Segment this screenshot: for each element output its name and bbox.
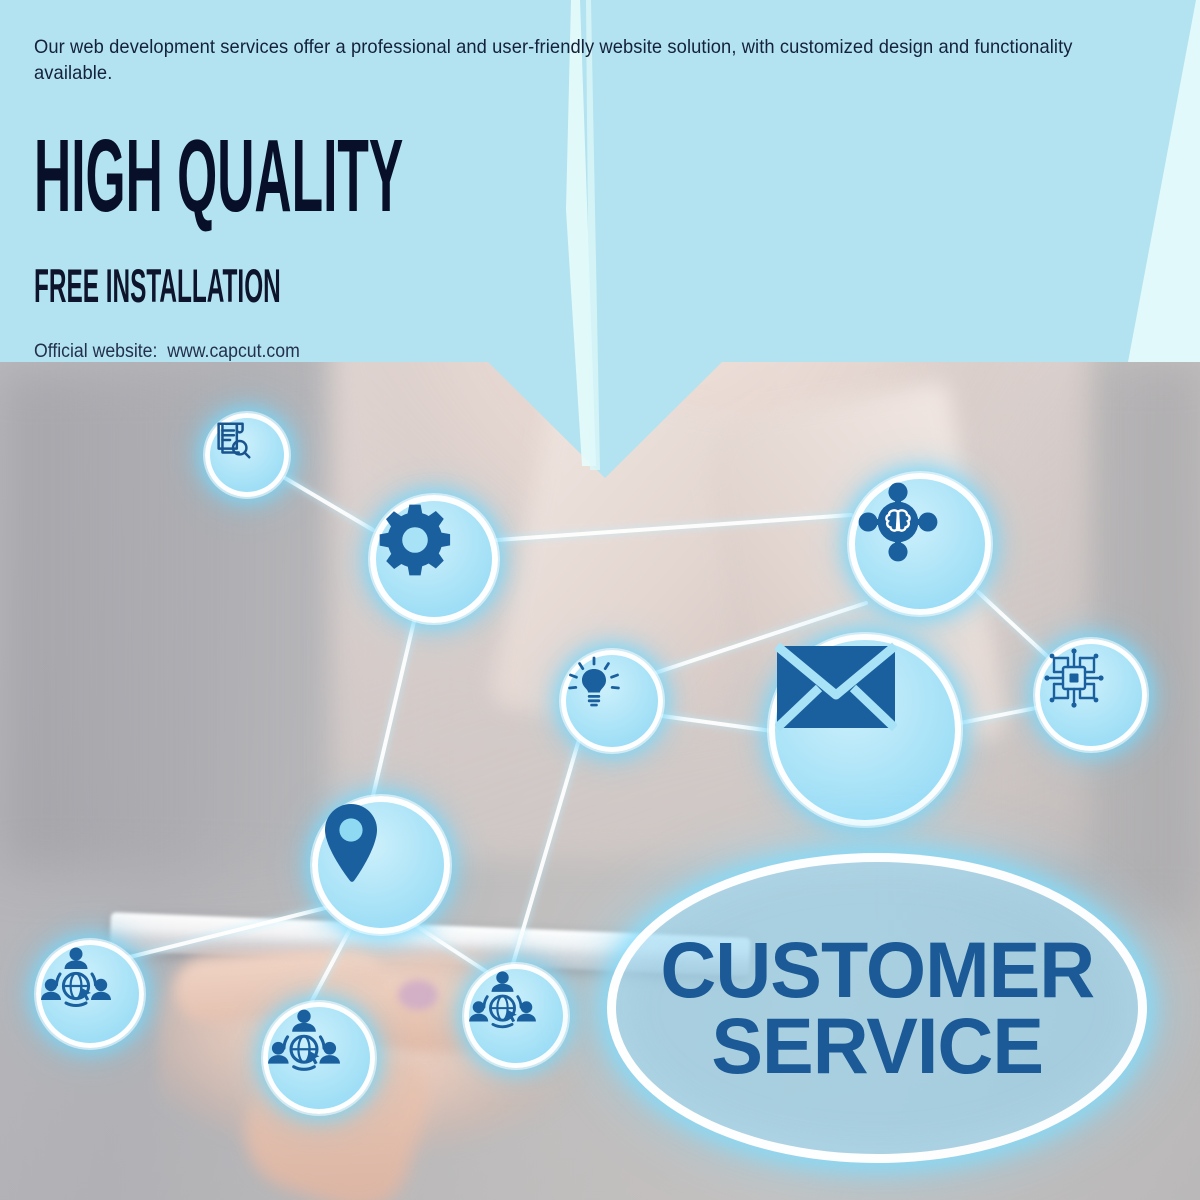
node-document-search[interactable] [205, 413, 289, 497]
page-title: HIGH QUALITY [34, 128, 656, 224]
customer-service-line-1: CUSTOMER [660, 932, 1094, 1008]
node-global-team-1[interactable] [36, 940, 144, 1048]
official-website-line: Official website: www.capcut.com [34, 340, 1066, 364]
customer-service-badge[interactable]: CUSTOMER SERVICE [607, 853, 1147, 1163]
subheading: FREE INSTALLATION [34, 264, 678, 309]
node-global-team-3[interactable] [464, 964, 568, 1068]
banner-text-block: Our web development services offer a pro… [34, 34, 1144, 364]
node-microchip[interactable] [1035, 639, 1147, 751]
node-location-pin[interactable] [312, 796, 450, 934]
node-gear[interactable] [370, 495, 498, 623]
node-global-team-2[interactable] [263, 1002, 375, 1114]
node-lightbulb[interactable] [561, 650, 663, 752]
node-brain-network[interactable] [849, 473, 991, 615]
customer-service-line-2: SERVICE [711, 1008, 1043, 1084]
tagline-text: Our web development services offer a pro… [34, 34, 1077, 86]
website-url[interactable]: www.capcut.com [167, 341, 300, 362]
node-envelope[interactable] [769, 634, 961, 826]
poster-canvas: CUSTOMER SERVICE Our web development ser… [0, 0, 1200, 1200]
website-label: Official website: [34, 341, 157, 362]
